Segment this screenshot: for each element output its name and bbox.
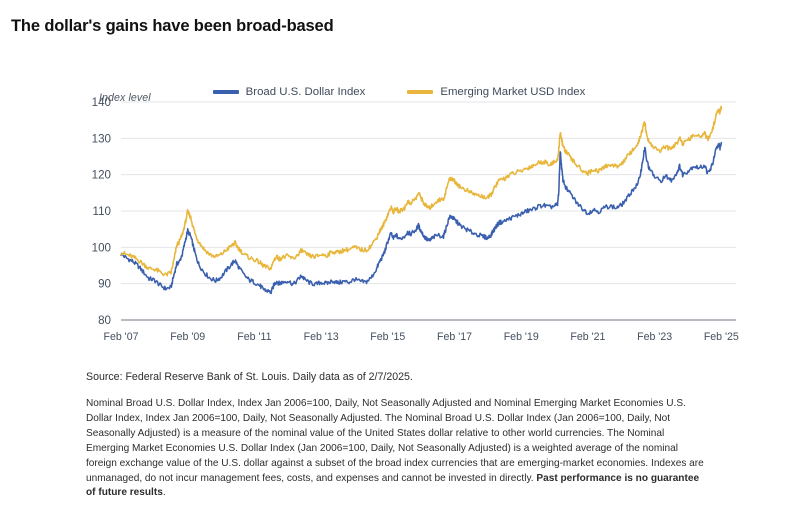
svg-text:Feb '07: Feb '07 [103,331,138,343]
chart-gridlines [121,102,736,320]
svg-text:Feb '09: Feb '09 [170,331,205,343]
svg-text:Feb '21: Feb '21 [570,331,605,343]
svg-text:Feb '23: Feb '23 [637,331,672,343]
screenshot-root: The dollar's gains have been broad-based… [0,0,791,528]
footnote-disclosure: Nominal Broad U.S. Dollar Index, Index J… [86,397,706,501]
chart-figure-card: Broad U.S. Dollar Index Emerging Market … [69,60,774,510]
y-axis-tick-labels: 8090100110120130140 [92,96,111,327]
svg-text:Feb '15: Feb '15 [370,331,405,343]
svg-text:130: 130 [92,132,111,145]
line-chart-svg: 8090100110120130140 Feb '07Feb '09Feb '1… [69,90,774,362]
footnote-period: . [163,487,166,498]
svg-text:Feb '25: Feb '25 [704,331,739,343]
chart-series-lines [121,106,721,293]
series-line-broad-usd [121,143,721,294]
svg-text:140: 140 [92,96,111,109]
page-title: The dollar's gains have been broad-based [11,17,334,36]
chart-plot-area: Index level 8090100110120130140 Feb '07F… [69,90,774,362]
footnote-body: Nominal Broad U.S. Dollar Index, Index J… [86,398,704,484]
svg-text:Feb '17: Feb '17 [437,331,472,343]
source-note: Source: Federal Reserve Bank of St. Loui… [86,371,413,383]
svg-text:90: 90 [98,278,111,291]
svg-text:Feb '11: Feb '11 [237,331,271,343]
svg-text:Feb '19: Feb '19 [504,331,539,343]
svg-text:Feb '13: Feb '13 [304,331,339,343]
x-axis-tick-labels: Feb '07Feb '09Feb '11Feb '13Feb '15Feb '… [103,331,738,343]
svg-text:110: 110 [93,205,111,218]
svg-text:120: 120 [92,169,111,182]
svg-text:80: 80 [98,314,111,327]
svg-text:100: 100 [92,241,111,254]
